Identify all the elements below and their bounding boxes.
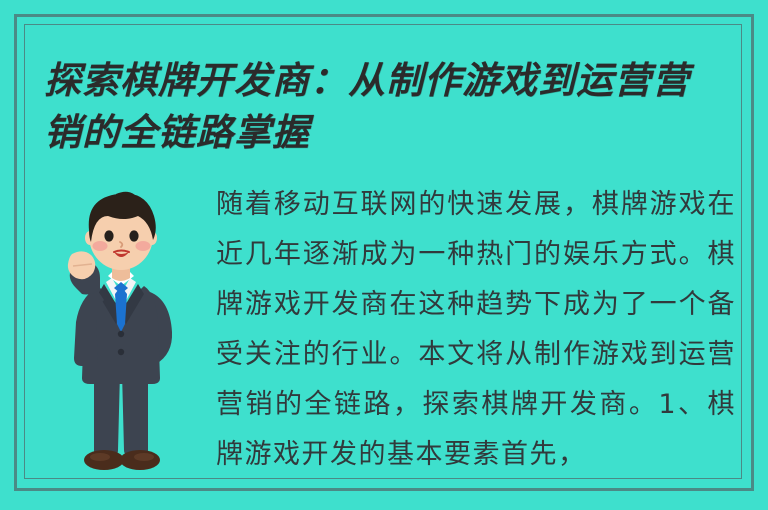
page-title: 探索棋牌开发商：从制作游戏到运营营销的全链路掌握: [44, 54, 724, 158]
article-body: 随着移动互联网的快速发展，棋牌游戏在近几年逐渐成为一种热门的娱乐方式。棋牌游戏开…: [216, 180, 736, 480]
illustration-businessman: [46, 182, 196, 482]
businessman-icon: [46, 182, 196, 482]
poster-canvas: 探索棋牌开发商：从制作游戏到运营营销的全链路掌握: [0, 0, 768, 510]
